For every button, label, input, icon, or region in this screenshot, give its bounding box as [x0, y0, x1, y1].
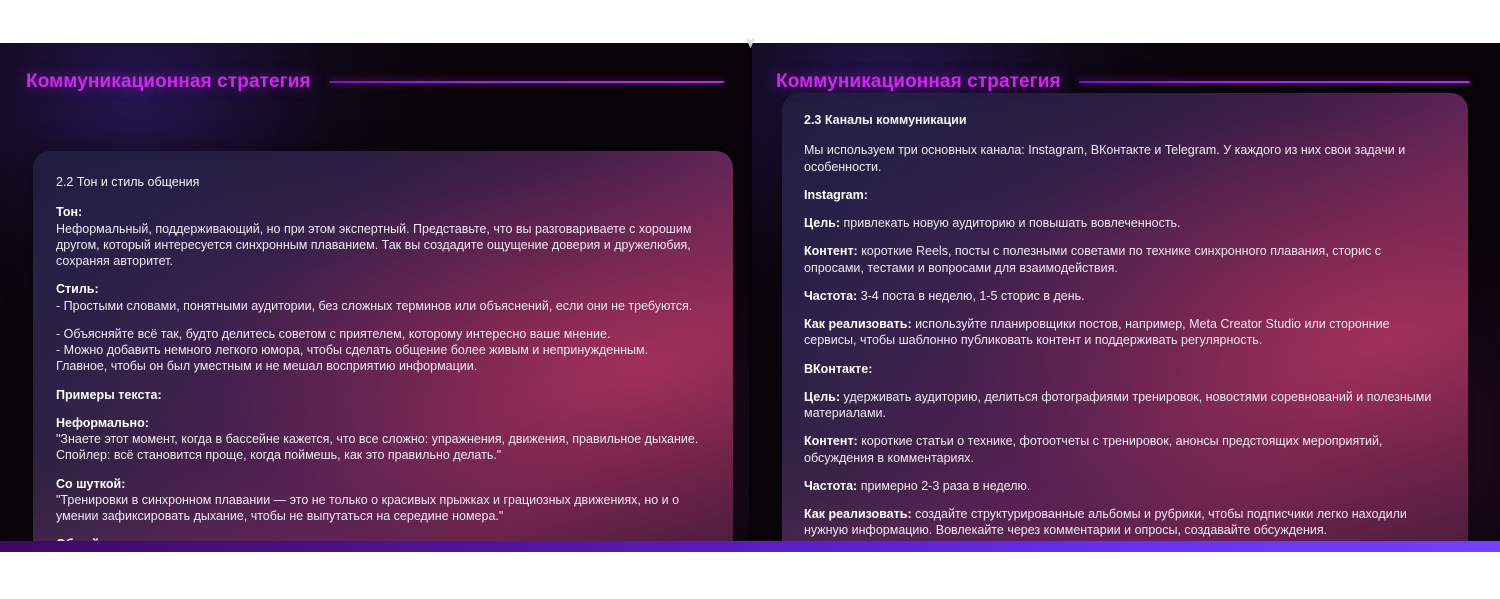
card-heading: 2.3 Каналы коммуникации — [804, 112, 1444, 128]
block-label-informal: Неформально: — [56, 415, 709, 431]
card-body-right: 2.3 Каналы коммуникации Мы используем тр… — [782, 93, 1468, 539]
channel-item: Как реализовать: создайте структурирован… — [804, 506, 1444, 522]
channel-name-instagram: Instagram: — [804, 187, 1444, 203]
block-line: "Знаете этот момент, когда в бассейне ка… — [56, 431, 709, 447]
block-label-ton: Тон: — [56, 204, 709, 220]
card-heading: 2.2 Тон и стиль общения — [56, 174, 709, 190]
intro-line: особенности. — [804, 159, 1444, 175]
card-body-left: 2.2 Тон и стиль общения Тон: Неформальны… — [33, 151, 733, 543]
channel-item: Частота: 3-4 поста в неделю, 1-5 сторис … — [804, 288, 1444, 304]
channel-item: Цель: привлекать новую аудиторию и повыш… — [804, 215, 1444, 231]
title-rule-line — [329, 81, 724, 83]
item-text: создайте структурированные альбомы и руб… — [915, 507, 1407, 521]
item-label: Как реализовать: — [804, 317, 915, 331]
presentation-canvas: Коммуникационная стратегия 2.2 Тон и сти… — [0, 0, 1500, 599]
slide-channels[interactable]: Коммуникационная стратегия 2.3 Каналы ко… — [750, 43, 1500, 543]
block-line: умении зафиксировать дыхание, чтобы не в… — [56, 508, 709, 524]
item-label: Цель: — [804, 216, 844, 230]
block-line: другом, который интересуется синхронным … — [56, 237, 709, 253]
item-text: материалами. — [804, 405, 1444, 421]
channel-name-vkontakte: ВКонтакте: — [804, 361, 1444, 377]
channel-item: Частота: примерно 2-3 раза в неделю. — [804, 478, 1444, 494]
intro-line: Мы используем три основных канала: Insta… — [804, 142, 1444, 158]
block-line: Неформальный, поддерживающий, но при это… — [56, 221, 709, 237]
slide-header-left: Коммуникационная стратегия — [26, 71, 724, 93]
item-text: обсуждения в комментариях. — [804, 450, 1444, 466]
item-label: Контент: — [804, 244, 861, 258]
item-text: используйте планировщики постов, наприме… — [915, 317, 1390, 331]
slide-header-right: Коммуникационная стратегия — [776, 71, 1470, 93]
content-card-right: 2.3 Каналы коммуникации Мы используем тр… — [782, 93, 1468, 543]
title-rule-line — [1079, 81, 1470, 83]
slide-title: Коммуникационная стратегия — [26, 71, 311, 93]
block-line: - Объясняйте всё так, будто делитесь сов… — [56, 326, 709, 342]
slide-title: Коммуникационная стратегия — [776, 71, 1061, 93]
item-label: Частота: — [804, 289, 861, 303]
mouse-cursor-icon — [744, 37, 757, 49]
slide-tone-and-style[interactable]: Коммуникационная стратегия 2.2 Тон и сти… — [0, 43, 750, 543]
channel-item: Контент: короткие Reels, посты с полезны… — [804, 243, 1444, 259]
block-line: - Можно добавить немного легкого юмора, … — [56, 342, 709, 358]
item-label: Контент: — [804, 434, 861, 448]
item-text: примерно 2-3 раза в неделю. — [861, 479, 1031, 493]
item-text: нужную информацию. Вовлекайте через комм… — [804, 522, 1444, 538]
channel-item: Контент: короткие статьи о технике, фото… — [804, 433, 1444, 449]
channel-item: Цель: удерживать аудиторию, делиться фот… — [804, 389, 1444, 405]
channel-item: Как реализовать: используйте планировщик… — [804, 316, 1444, 332]
block-line: "Тренировки в синхронном плавании — это … — [56, 492, 709, 508]
item-label: Частота: — [804, 479, 861, 493]
item-text: 3-4 поста в неделю, 1-5 сторис в день. — [861, 289, 1085, 303]
item-text: короткие статьи о технике, фотоотчеты с … — [861, 434, 1382, 448]
item-text: опросами, тестами и вопросами для взаимо… — [804, 260, 1444, 276]
item-text: удерживать аудиторию, делиться фотографи… — [844, 390, 1432, 404]
bottom-accent-bar — [0, 541, 1500, 552]
block-line: Спойлер: всё становится проще, когда пой… — [56, 447, 709, 463]
content-card-left: 2.2 Тон и стиль общения Тон: Неформальны… — [33, 151, 733, 543]
item-label: Цель: — [804, 390, 844, 404]
block-label-examples: Примеры текста: — [56, 387, 709, 403]
block-label-joke: Со шуткой: — [56, 476, 709, 492]
block-line: сохраняя авторитет. — [56, 253, 709, 269]
item-text: привлекать новую аудиторию и повышать во… — [844, 216, 1181, 230]
item-text: короткие Reels, посты с полезными совета… — [861, 244, 1381, 258]
item-label: Как реализовать: — [804, 507, 915, 521]
slide-divider — [749, 43, 752, 543]
block-label-stil: Стиль: — [56, 281, 709, 297]
block-line: Главное, чтобы он был уместным и не меша… — [56, 358, 709, 374]
block-line: - Простыми словами, понятными аудитории,… — [56, 298, 709, 314]
item-text: сервисы, чтобы шаблонно публиковать конт… — [804, 332, 1444, 348]
